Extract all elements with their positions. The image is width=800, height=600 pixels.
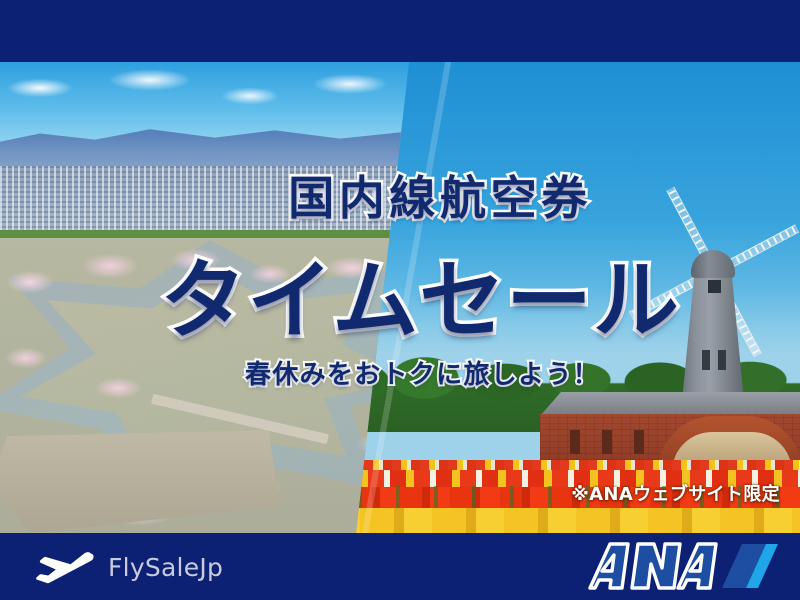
banner-subtitle: 春休みをおトクに旅しよう！ [0, 354, 800, 391]
web-only-note: ※ANAウェブサイト限定 [0, 480, 780, 506]
ana-time-sale-banner: 国内線航空券 タイムセール 春休みをおトクに旅しよう！ ※ANAウェブサイト限定… [0, 0, 800, 600]
brand-name: FlySaleJp [108, 553, 223, 582]
banner-title-line1: 国内線航空券 [0, 162, 800, 228]
banner-copy: 国内線航空券 タイムセール 春休みをおトクに旅しよう！ ※ANAウェブサイト限定 [0, 62, 800, 533]
banner-title-line2: タイムセール [0, 230, 800, 355]
ana-logo [566, 538, 782, 594]
top-navy-bar [0, 0, 800, 62]
ana-logo-mark [566, 538, 782, 594]
airplane-takeoff-icon [28, 550, 94, 584]
brand-lockup[interactable]: FlySaleJp [28, 546, 223, 588]
